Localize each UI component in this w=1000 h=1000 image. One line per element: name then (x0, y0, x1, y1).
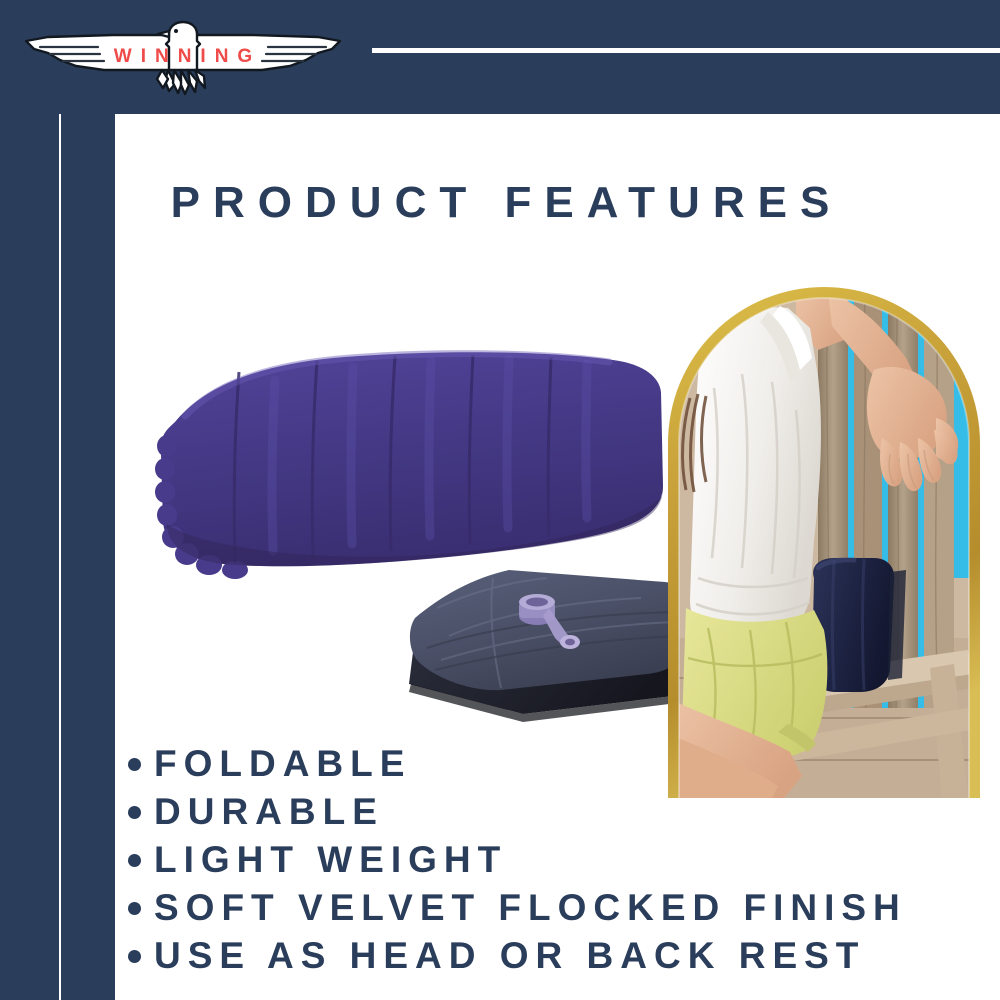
feature-list: FOLDABLE DURABLE LIGHT WEIGHT SOFT VELVE… (128, 740, 1000, 980)
feature-item: LIGHT WEIGHT (128, 836, 1000, 884)
feature-item: DURABLE (128, 788, 1000, 836)
bullet-icon (128, 806, 141, 819)
product-image-folded-pillow (397, 556, 697, 724)
inflatable-pillow-illustration (143, 336, 673, 592)
feature-item: USE AS HEAD OR BACK REST (128, 932, 1000, 980)
brand-logo[interactable]: WINNING (18, 13, 348, 97)
feature-item: FOLDABLE (128, 740, 1000, 788)
lifestyle-scene-illustration (668, 278, 980, 798)
page-title: PRODUCT FEATURES (0, 178, 1000, 228)
bullet-icon (128, 950, 141, 963)
feature-label: USE AS HEAD OR BACK REST (154, 935, 865, 977)
bullet-icon (128, 902, 141, 915)
bullet-icon (128, 854, 141, 867)
poster-canvas: WINNING PRODUCT FEATURES (0, 0, 1000, 1000)
folded-pillow-with-valve-illustration (397, 556, 697, 724)
feature-label: DURABLE (154, 791, 384, 833)
lifestyle-photo-arch (668, 278, 980, 798)
feature-label: SOFT VELVET FLOCKED FINISH (154, 887, 907, 929)
eagle-wings-icon (18, 13, 348, 97)
feature-label: FOLDABLE (154, 743, 411, 785)
product-image-inflated-pillow (143, 336, 673, 592)
feature-label: LIGHT WEIGHT (154, 839, 507, 881)
feature-item: SOFT VELVET FLOCKED FINISH (128, 884, 1000, 932)
bullet-icon (128, 758, 141, 771)
left-accent-line (59, 114, 61, 1000)
header-accent-line (372, 48, 1000, 53)
